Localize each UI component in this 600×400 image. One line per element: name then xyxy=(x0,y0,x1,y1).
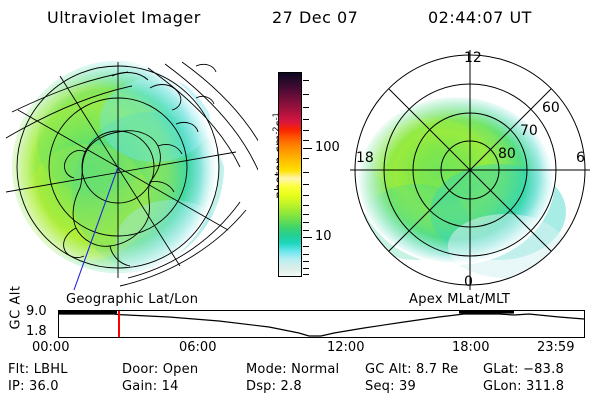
colorbar-minor-tick xyxy=(303,246,309,247)
header-bar: Ultraviolet Imager 27 Dec 07 02:44:07 UT xyxy=(0,8,600,32)
orbit-xtick-1200: 12:00 xyxy=(327,340,364,355)
colorbar-major-tick xyxy=(303,148,312,149)
mlt-label-18: 18 xyxy=(356,150,374,166)
geographic-panel-caption: Geographic Lat/Lon xyxy=(66,292,198,307)
status-gain: Gain: 14 xyxy=(122,379,179,394)
colorbar-minor-tick xyxy=(303,184,309,185)
mlt-label-0: 0 xyxy=(464,274,473,290)
colorbar-minor-tick xyxy=(303,205,309,206)
apex-polar-image[interactable]: 12 18 6 0 60 70 80 xyxy=(330,40,600,292)
colorbar-minor-tick xyxy=(303,107,309,108)
colorbar-swatch xyxy=(278,72,302,277)
instrument-title: Ultraviolet Imager xyxy=(47,8,201,27)
mlat-label-80: 80 xyxy=(498,146,516,162)
colorbar-minor-tick xyxy=(303,172,309,173)
status-ip: IP: 36.0 xyxy=(8,379,59,394)
status-door: Door: Open xyxy=(122,362,198,377)
current-time-marker xyxy=(118,311,120,337)
colorbar-minor-tick xyxy=(303,140,309,141)
orbit-plot-frame xyxy=(58,310,585,338)
apex-graticule xyxy=(350,50,590,290)
mlat-label-60: 60 xyxy=(542,100,560,116)
colorbar-minor-tick xyxy=(303,119,309,120)
colorbar-minor-tick xyxy=(303,94,309,95)
colorbar-minor-tick xyxy=(303,230,309,231)
orbit-y-axis-label: GC Alt xyxy=(9,278,24,338)
orbit-xtick-0000: 00:00 xyxy=(32,340,69,355)
orbit-xtick-0600: 06:00 xyxy=(179,340,216,355)
orbit-ytick-top: 9.0 xyxy=(26,304,47,319)
geographic-polar-image[interactable] xyxy=(0,42,258,292)
colorbar-minor-tick xyxy=(303,268,309,269)
colorbar-minor-tick xyxy=(303,261,309,262)
colorbar-minor-tick xyxy=(303,195,309,196)
mlat-label-70: 70 xyxy=(520,123,538,139)
mlt-label-12: 12 xyxy=(464,50,482,66)
observation-time: 02:44:07 UT xyxy=(428,8,532,27)
status-glon: GLon: 311.8 xyxy=(483,379,564,394)
colorbar-minor-tick xyxy=(303,80,309,81)
colorbar-minor-tick xyxy=(303,222,309,223)
status-seq: Seq: 39 xyxy=(365,379,416,394)
apex-panel-caption: Apex MLat/MLT xyxy=(409,292,510,307)
colorbar-gradient xyxy=(279,73,301,276)
status-flight: Flt: LBHL xyxy=(8,362,68,377)
status-gc-alt: GC Alt: 8.7 Re xyxy=(365,362,458,377)
orbit-altitude-plot[interactable]: GC Alt 9.0 1.8 Geographic Lat/Lon Apex M… xyxy=(0,292,600,352)
status-dsp: Dsp: 2.8 xyxy=(246,379,302,394)
orbit-xtick-1800: 18:00 xyxy=(452,340,489,355)
orbit-xtick-2359: 23:59 xyxy=(537,340,574,355)
status-mode: Mode: Normal xyxy=(246,362,339,377)
status-glat: GLat: −83.8 xyxy=(483,362,564,377)
colorbar-major-tick xyxy=(303,237,312,238)
colorbar-minor-tick xyxy=(303,130,309,131)
orbit-altitude-trace xyxy=(59,311,584,337)
status-footer: Flt: LBHL Door: Open Mode: Normal GC Alt… xyxy=(0,362,600,398)
orbit-ytick-bottom: 1.8 xyxy=(26,324,47,339)
colorbar-minor-tick xyxy=(303,158,309,159)
observation-date: 27 Dec 07 xyxy=(272,8,358,27)
colorbar-minor-tick xyxy=(303,274,309,275)
colorbar-minor-tick xyxy=(303,254,309,255)
mlt-label-6: 6 xyxy=(576,150,585,166)
colorbar-minor-tick xyxy=(303,214,309,215)
